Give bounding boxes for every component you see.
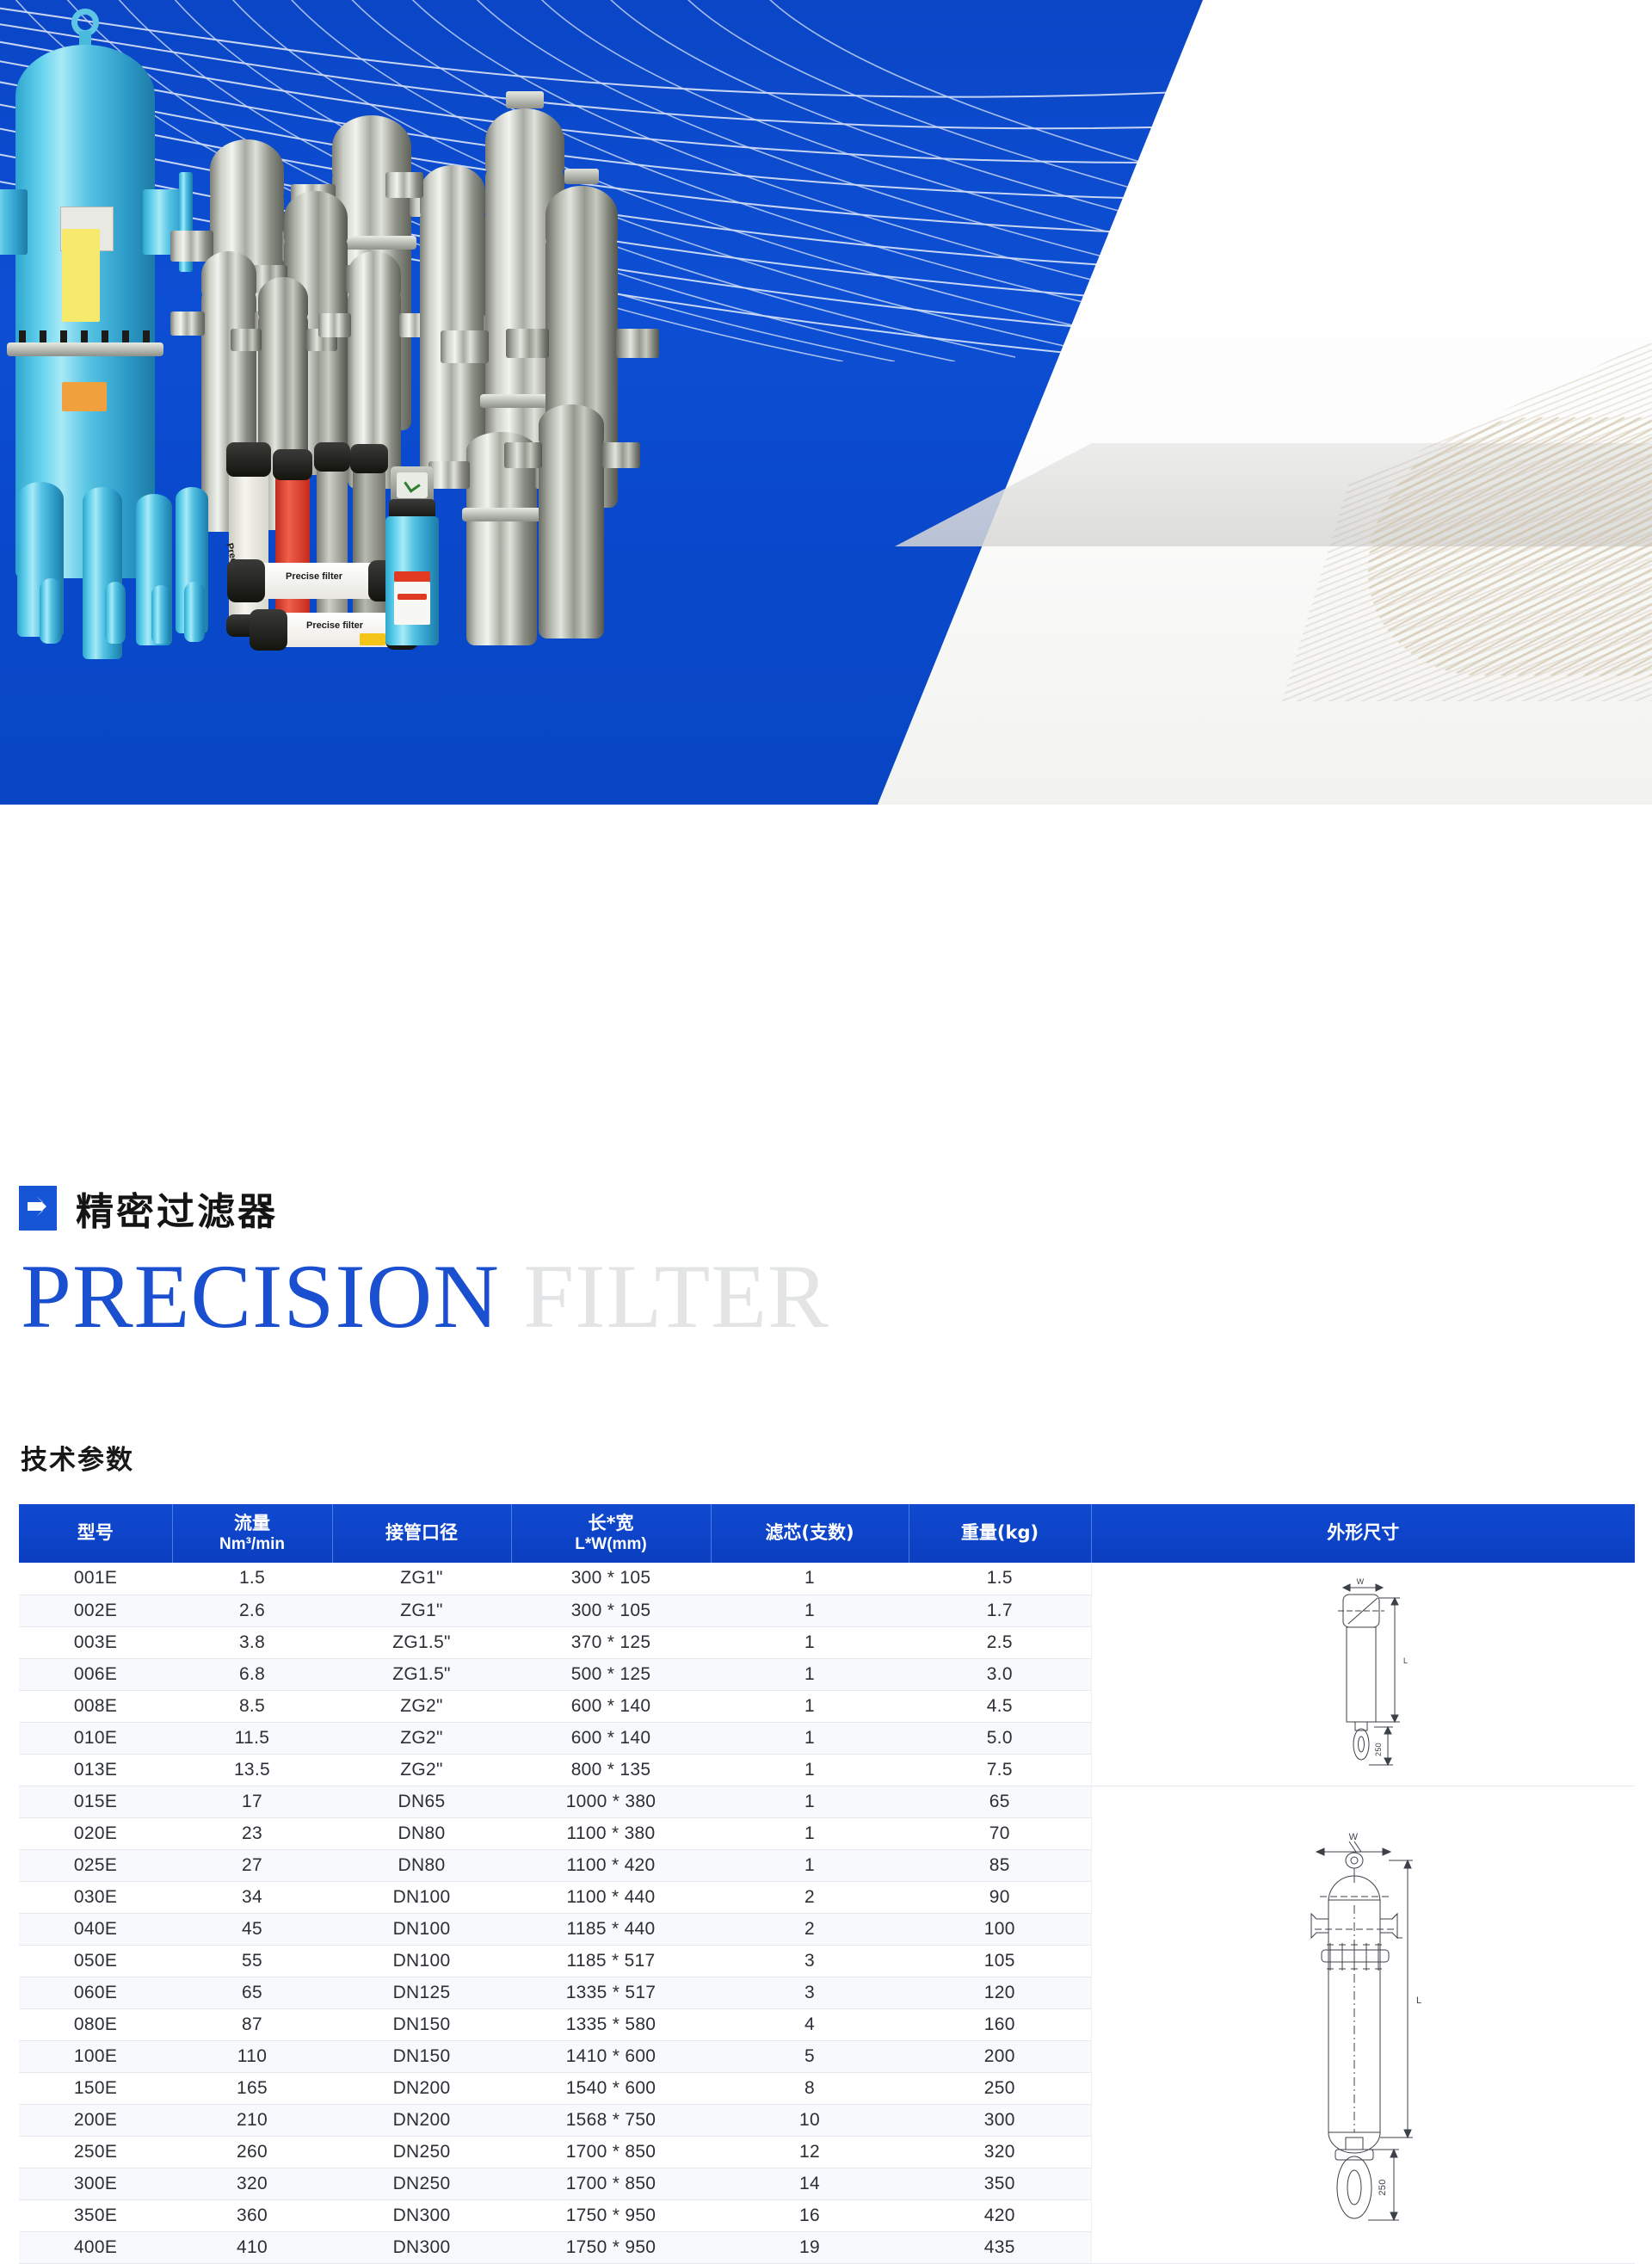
cell-elements: 14 — [711, 2168, 909, 2199]
cell-port: ZG1" — [332, 1563, 511, 1595]
cyan-mini-filter — [151, 585, 170, 644]
cell-elements: 10 — [711, 2104, 909, 2136]
filter-cartridge — [317, 465, 348, 630]
cell-port: DN100 — [332, 1945, 511, 1977]
spec-table-wrapper: 型号 流量 Nm³/min 接管口径 长*宽 L*W(mm) 滤芯(支数) 重量 — [19, 1504, 1635, 2264]
cell-elements: 1 — [711, 1817, 909, 1849]
cyan-mini-filter — [105, 582, 126, 644]
cell-dimensions: 1100 * 380 — [511, 1817, 711, 1849]
svg-text:250: 250 — [1378, 2179, 1388, 2195]
cell-model: 010E — [19, 1722, 172, 1754]
cell-model: 013E — [19, 1754, 172, 1786]
blue-filter-regulator — [385, 508, 439, 645]
table-header-row: 型号 流量 Nm³/min 接管口径 长*宽 L*W(mm) 滤芯(支数) 重量 — [19, 1504, 1635, 1563]
cell-elements: 1 — [711, 1722, 909, 1754]
svg-text:250: 250 — [1374, 1743, 1383, 1756]
cell-dimensions: 1700 * 850 — [511, 2168, 711, 2199]
cell-dimensions: 1750 * 950 — [511, 2199, 711, 2231]
cell-dimensions: 1335 * 580 — [511, 2008, 711, 2040]
cell-weight: 70 — [909, 1817, 1091, 1849]
filter-cartridge-horizontal: Precise filter — [248, 563, 382, 599]
cell-flow: 11.5 — [172, 1722, 332, 1754]
cell-flow: 110 — [172, 2040, 332, 2072]
filter-cartridge-horizontal: Precise filter — [270, 613, 399, 647]
cell-weight: 435 — [909, 2231, 1091, 2263]
cell-flow: 165 — [172, 2072, 332, 2104]
arrow-right-icon — [19, 1186, 57, 1231]
cell-dimensions: 300 * 105 — [511, 1563, 711, 1595]
svg-text:L: L — [1416, 1996, 1421, 2006]
cell-weight: 85 — [909, 1849, 1091, 1881]
cell-weight: 3.0 — [909, 1658, 1091, 1690]
cell-elements: 3 — [711, 1977, 909, 2008]
cell-weight: 160 — [909, 2008, 1091, 2040]
cell-elements: 1 — [711, 1658, 909, 1690]
cell-model: 015E — [19, 1786, 172, 1817]
cell-dimensions: 1185 * 440 — [511, 1913, 711, 1945]
cell-elements: 5 — [711, 2040, 909, 2072]
cell-elements: 1 — [711, 1754, 909, 1786]
section-title-cn: 精密过滤器 — [76, 1181, 278, 1236]
cell-dimensions: 1750 * 950 — [511, 2231, 711, 2263]
cell-dimensions: 1568 * 750 — [511, 2104, 711, 2136]
cell-port: DN250 — [332, 2168, 511, 2199]
cell-model: 006E — [19, 1658, 172, 1690]
cell-dimensions: 600 * 140 — [511, 1722, 711, 1754]
cell-port: ZG2" — [332, 1690, 511, 1722]
cell-dimensions: 370 * 125 — [511, 1626, 711, 1658]
cell-elements: 1 — [711, 1595, 909, 1626]
cell-weight: 105 — [909, 1945, 1091, 1977]
cell-weight: 7.5 — [909, 1754, 1091, 1786]
cell-flow: 55 — [172, 1945, 332, 1977]
cell-flow: 210 — [172, 2104, 332, 2136]
cell-weight: 1.7 — [909, 1595, 1091, 1626]
svg-text:W: W — [1349, 1832, 1359, 1842]
cell-flow: 45 — [172, 1913, 332, 1945]
cell-elements: 1 — [711, 1626, 909, 1658]
cell-dimensions: 1185 * 517 — [511, 1945, 711, 1977]
cartridge-brand-label: Precise filter — [306, 620, 363, 631]
steel-filter-housing — [539, 423, 604, 638]
cell-dimensions: 1000 * 380 — [511, 1786, 711, 1817]
cell-port: DN80 — [332, 1849, 511, 1881]
column-header-port-size: 接管口径 — [332, 1504, 511, 1563]
steel-filter-housing — [466, 447, 537, 645]
cell-elements: 1 — [711, 1563, 909, 1595]
filter-cartridge: Precise filter — [229, 466, 268, 626]
cell-dimensions: 1540 * 600 — [511, 2072, 711, 2104]
cell-model: 100E — [19, 2040, 172, 2072]
cell-model: 300E — [19, 2168, 172, 2199]
cell-weight: 420 — [909, 2199, 1091, 2231]
cell-flow: 13.5 — [172, 1754, 332, 1786]
cell-flow: 17 — [172, 1786, 332, 1817]
page-title-secondary: FILTER — [523, 1246, 829, 1347]
cell-model: 080E — [19, 2008, 172, 2040]
spec-table-body: 001E1.5ZG1"300 * 10511.5WL250002E2.6ZG1"… — [19, 1563, 1635, 2263]
cell-port: DN300 — [332, 2231, 511, 2263]
cell-weight: 300 — [909, 2104, 1091, 2136]
cell-elements: 3 — [711, 1945, 909, 1977]
cell-elements: 8 — [711, 2072, 909, 2104]
cell-elements: 19 — [711, 2231, 909, 2263]
cell-model: 025E — [19, 1849, 172, 1881]
column-header-model: 型号 — [19, 1504, 172, 1563]
column-header-outline-drawing: 外形尺寸 — [1091, 1504, 1635, 1563]
cell-model: 050E — [19, 1945, 172, 1977]
cell-elements: 1 — [711, 1786, 909, 1817]
cell-dimensions: 1410 * 600 — [511, 2040, 711, 2072]
cell-dimensions: 1335 * 517 — [511, 1977, 711, 2008]
cell-flow: 65 — [172, 1977, 332, 2008]
cartridge-brand-label: Precise filter — [286, 571, 342, 582]
cell-flow: 23 — [172, 1817, 332, 1849]
cell-flow: 27 — [172, 1849, 332, 1881]
cell-dimensions: 1700 * 850 — [511, 2136, 711, 2168]
cell-flow: 3.8 — [172, 1626, 332, 1658]
cell-model: 030E — [19, 1881, 172, 1913]
cell-model: 040E — [19, 1913, 172, 1945]
cell-port: DN150 — [332, 2008, 511, 2040]
cell-port: DN125 — [332, 1977, 511, 2008]
cell-elements: 4 — [711, 2008, 909, 2040]
spec-table: 型号 流量 Nm³/min 接管口径 长*宽 L*W(mm) 滤芯(支数) 重量 — [19, 1504, 1635, 2264]
filter-cartridge — [353, 466, 385, 628]
cell-port: DN65 — [332, 1786, 511, 1817]
cell-weight: 5.0 — [909, 1722, 1091, 1754]
cell-weight: 1.5 — [909, 1563, 1091, 1595]
cell-dimensions: 1100 * 420 — [511, 1849, 711, 1881]
cell-dimensions: 300 * 105 — [511, 1595, 711, 1626]
cell-port: ZG1" — [332, 1595, 511, 1626]
small-filter-outline-drawing: WL250 — [1091, 1563, 1635, 1786]
cell-elements: 2 — [711, 1881, 909, 1913]
svg-text:L: L — [1403, 1656, 1408, 1665]
cell-flow: 2.6 — [172, 1595, 332, 1626]
column-header-elements: 滤芯(支数) — [711, 1504, 909, 1563]
cell-flow: 1.5 — [172, 1563, 332, 1595]
cell-model: 200E — [19, 2104, 172, 2136]
cell-flow: 87 — [172, 2008, 332, 2040]
table-row: 015E17DN651000 * 380165WL250 — [19, 1786, 1635, 1817]
cell-port: DN300 — [332, 2199, 511, 2231]
cell-weight: 200 — [909, 2040, 1091, 2072]
cell-model: 350E — [19, 2199, 172, 2231]
cell-elements: 2 — [711, 1913, 909, 1945]
column-header-weight: 重量(kg) — [909, 1504, 1091, 1563]
cell-port: ZG1.5" — [332, 1658, 511, 1690]
cell-port: DN80 — [332, 1817, 511, 1849]
cell-flow: 8.5 — [172, 1690, 332, 1722]
cell-port: DN200 — [332, 2104, 511, 2136]
cell-elements: 12 — [711, 2136, 909, 2168]
cell-weight: 4.5 — [909, 1690, 1091, 1722]
cell-weight: 250 — [909, 2072, 1091, 2104]
cell-port: ZG2" — [332, 1722, 511, 1754]
cell-model: 003E — [19, 1626, 172, 1658]
cell-dimensions: 1100 * 440 — [511, 1881, 711, 1913]
cell-dimensions: 800 * 135 — [511, 1754, 711, 1786]
cell-model: 250E — [19, 2136, 172, 2168]
cell-weight: 120 — [909, 1977, 1091, 2008]
cell-dimensions: 600 * 140 — [511, 1690, 711, 1722]
cell-dimensions: 500 * 125 — [511, 1658, 711, 1690]
cell-weight: 65 — [909, 1786, 1091, 1817]
cell-model: 060E — [19, 1977, 172, 2008]
cell-weight: 90 — [909, 1881, 1091, 1913]
cell-elements: 16 — [711, 2199, 909, 2231]
page-title: PRECISION FILTER — [21, 1246, 829, 1348]
column-header-flow: 流量 Nm³/min — [172, 1504, 332, 1563]
cell-flow: 360 — [172, 2199, 332, 2231]
cell-port: DN200 — [332, 2072, 511, 2104]
cell-elements: 1 — [711, 1690, 909, 1722]
technical-parameters-label: 技术参数 — [21, 1438, 134, 1477]
cell-weight: 2.5 — [909, 1626, 1091, 1658]
svg-text:W: W — [1357, 1577, 1365, 1586]
cell-port: ZG1.5" — [332, 1626, 511, 1658]
cell-port: DN100 — [332, 1881, 511, 1913]
cyan-mini-filter — [184, 582, 205, 642]
cell-port: ZG2" — [332, 1754, 511, 1786]
cell-flow: 34 — [172, 1881, 332, 1913]
page-title-primary: PRECISION — [21, 1246, 500, 1347]
filter-cartridge-red — [275, 472, 310, 626]
cell-model: 008E — [19, 1690, 172, 1722]
cyan-mini-filter — [40, 578, 62, 644]
cell-model: 400E — [19, 2231, 172, 2263]
cell-flow: 320 — [172, 2168, 332, 2199]
cell-model: 150E — [19, 2072, 172, 2104]
cell-weight: 320 — [909, 2136, 1091, 2168]
hero-banner: Precise filter Precise filter Precise fi… — [0, 0, 1652, 805]
cell-weight: 100 — [909, 1913, 1091, 1945]
cell-port: DN100 — [332, 1913, 511, 1945]
large-filter-outline-drawing: WL250 — [1091, 1786, 1635, 2263]
cell-weight: 350 — [909, 2168, 1091, 2199]
section-heading: 精密过滤器 — [19, 1181, 278, 1236]
cell-flow: 6.8 — [172, 1658, 332, 1690]
column-header-dimensions: 长*宽 L*W(mm) — [511, 1504, 711, 1563]
cell-flow: 260 — [172, 2136, 332, 2168]
cell-model: 020E — [19, 1817, 172, 1849]
table-row: 001E1.5ZG1"300 * 10511.5WL250 — [19, 1563, 1635, 1595]
cell-port: DN250 — [332, 2136, 511, 2168]
spec-table-head: 型号 流量 Nm³/min 接管口径 长*宽 L*W(mm) 滤芯(支数) 重量 — [19, 1504, 1635, 1563]
cell-port: DN150 — [332, 2040, 511, 2072]
cell-model: 002E — [19, 1595, 172, 1626]
cell-model: 001E — [19, 1563, 172, 1595]
cell-flow: 410 — [172, 2231, 332, 2263]
cell-elements: 1 — [711, 1849, 909, 1881]
